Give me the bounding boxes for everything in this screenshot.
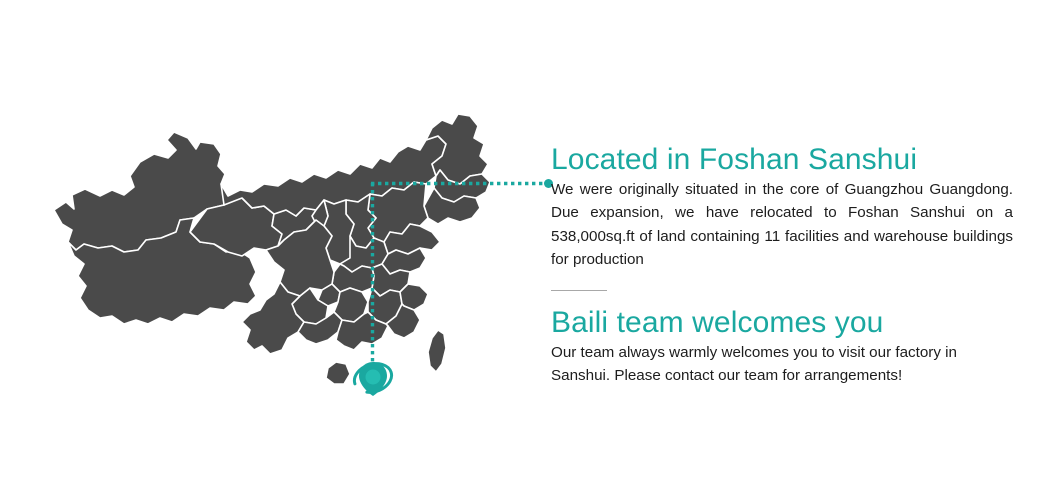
content-block-welcome: Baili team welcomes you Our team always …: [551, 307, 1013, 388]
heading-baili-team-welcomes-you: Baili team welcomes you: [551, 307, 1013, 339]
content-block-location: Located in Foshan Sanshui We were origin…: [551, 144, 1013, 271]
infographic-root: Located in Foshan Sanshui We were origin…: [0, 0, 1058, 503]
china-map-svg: [28, 92, 528, 437]
map-pin-inner-circle-icon: [366, 370, 381, 385]
content-column: Located in Foshan Sanshui We were origin…: [551, 144, 1013, 387]
heading-located-in-foshan-sanshui: Located in Foshan Sanshui: [551, 144, 1013, 176]
china-map: [28, 92, 528, 437]
map-pin-marker[interactable]: [345, 352, 401, 404]
body-located-in-foshan-sanshui: We were originally situated in the core …: [551, 178, 1013, 270]
body-baili-team-welcomes-you: Our team always warmly welcomes you to v…: [551, 341, 1013, 387]
connector-horizontal-line: [369, 180, 551, 187]
map-provinces: [54, 114, 490, 384]
connector-vertical-line: [369, 180, 376, 380]
section-divider: [551, 290, 607, 291]
province-taiwan: [428, 330, 446, 372]
